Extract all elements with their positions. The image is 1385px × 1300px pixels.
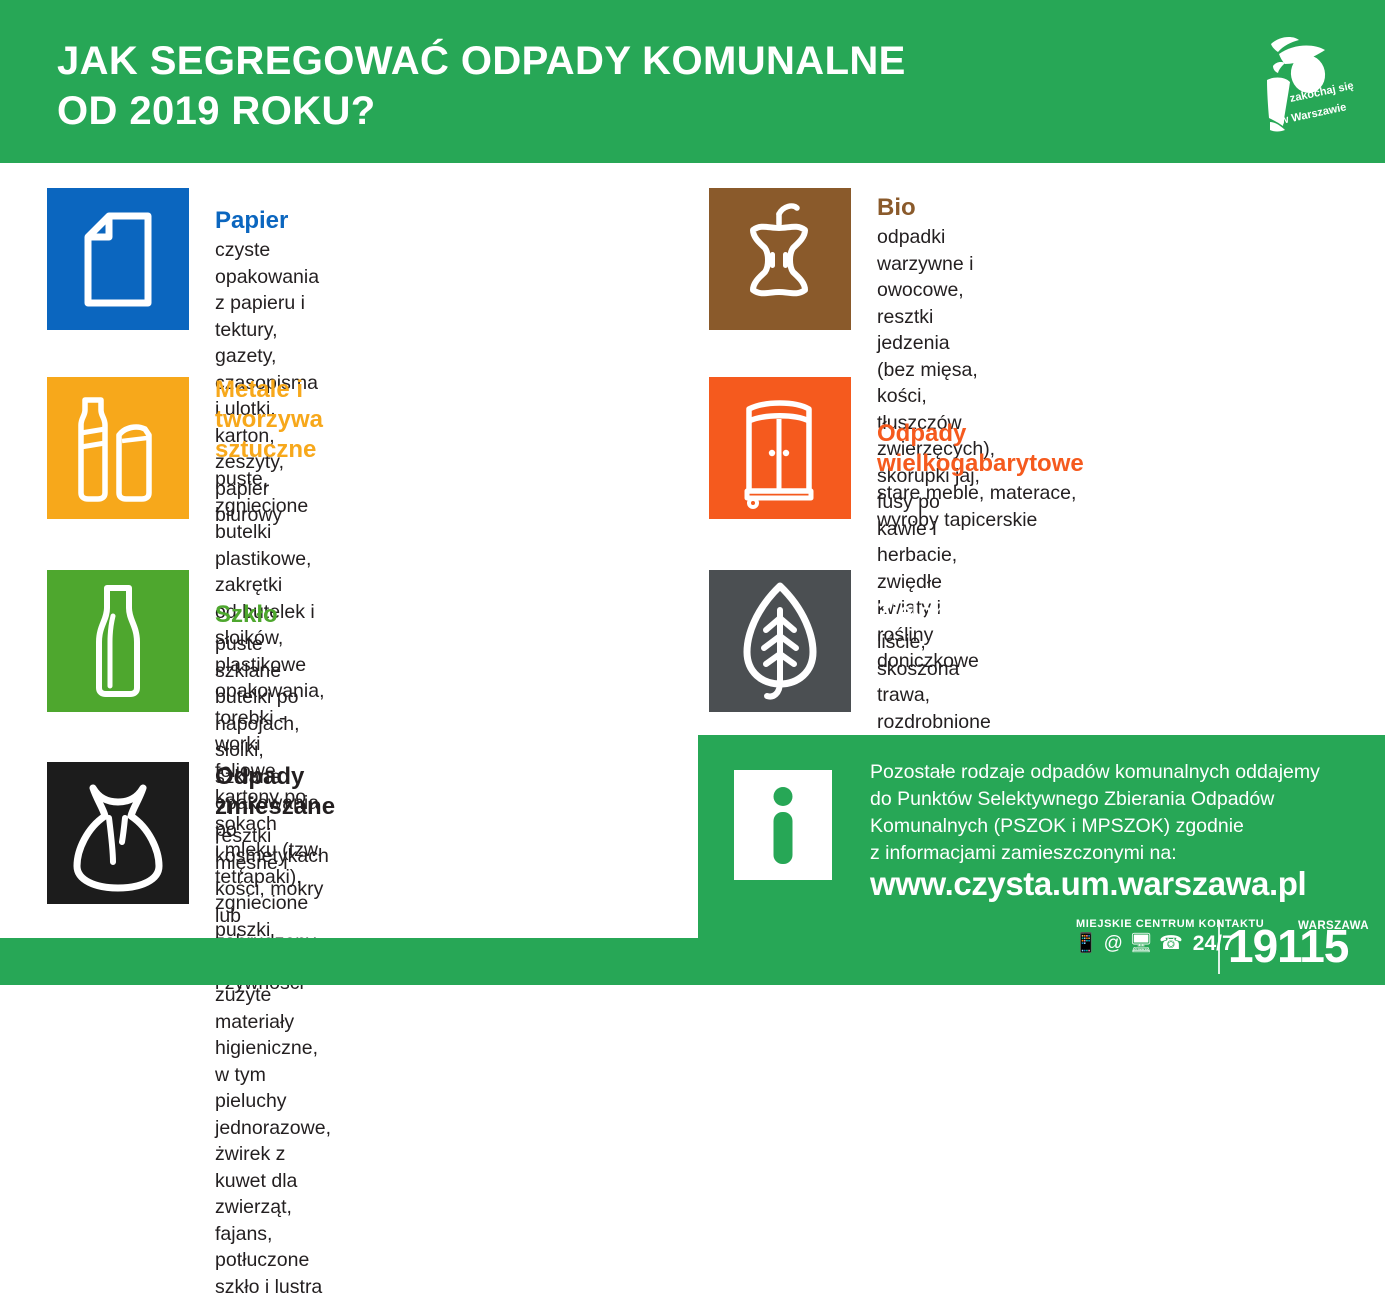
header-banner: JAK SEGREGOWAĆ ODPADY KOMUNALNE OD 2019 …: [0, 0, 1385, 163]
category-tile-wielkogabarytowe: [709, 377, 851, 519]
category-tile-papier: [47, 188, 189, 330]
telephone-icon: ☎: [1159, 934, 1183, 954]
category-tile-szklo: [47, 570, 189, 712]
category-title: Zielone: [877, 598, 991, 628]
contact-divider: [1218, 920, 1220, 974]
information-icon-stem: [774, 812, 793, 864]
contact-icon-row: 📱 @ 🖥 ☎ 24/7: [1074, 934, 1234, 954]
glass-bottle-icon: [47, 570, 189, 712]
category-title: Bio: [877, 193, 995, 223]
category-description: resztki mięsne i kości, mokry lub zabrud…: [215, 823, 335, 1300]
wardrobe-icon: [709, 377, 851, 519]
category-description: stare meble, materace, wyroby tapicerski…: [877, 480, 1084, 533]
computer-icon: 🖥: [1129, 934, 1153, 954]
mobile-phone-icon: 📱: [1074, 934, 1098, 954]
plastic-bottle-and-can-icon: [47, 377, 189, 519]
category-title: Szkło: [215, 600, 329, 630]
leaf-icon: [709, 570, 851, 712]
information-icon: [734, 770, 832, 880]
category-title: Odpady wielkogabarytowe: [877, 419, 1084, 479]
category-tile-zmieszane: [47, 762, 189, 904]
category-tile-zielone: [709, 570, 851, 712]
page-title: JAK SEGREGOWAĆ ODPADY KOMUNALNE OD 2019 …: [57, 36, 906, 136]
zakochaj-sie-w-warszawie-logo: zakochaj się w Warszawie: [1245, 22, 1365, 142]
category-tile-bio: [709, 188, 851, 330]
infographic-page: JAK SEGREGOWAĆ ODPADY KOMUNALNE OD 2019 …: [0, 0, 1385, 985]
waste-bag-icon: [47, 762, 189, 904]
information-icon-dot: [774, 787, 793, 806]
category-text-wielkogabarytowe: Odpady wielkogabarytowe stare meble, mat…: [877, 419, 1084, 533]
apple-core-icon: [709, 188, 851, 330]
category-text-zmieszane: Odpady zmieszane resztki mięsne i kości,…: [215, 762, 335, 1300]
category-tile-metale: [47, 377, 189, 519]
paper-sheet-icon: [47, 188, 189, 330]
email-at-icon: @: [1104, 934, 1123, 954]
info-panel-text: Pozostałe rodzaje odpadów komunalnych od…: [870, 759, 1350, 867]
category-title: Metale i tworzywa sztuczne: [215, 375, 324, 465]
contact-center-block: MIEJSKIE CENTRUM KONTAKTU 📱 @ 🖥 ☎ 24/7 1…: [1072, 918, 1332, 976]
contact-city-label: WARSZAWA: [1298, 920, 1369, 932]
category-title: Papier: [215, 206, 319, 236]
category-title: Odpady zmieszane: [215, 762, 335, 822]
svg-text:w Warszawie: w Warszawie: [1278, 101, 1347, 127]
website-link[interactable]: www.czysta.um.warszawa.pl: [870, 865, 1306, 903]
